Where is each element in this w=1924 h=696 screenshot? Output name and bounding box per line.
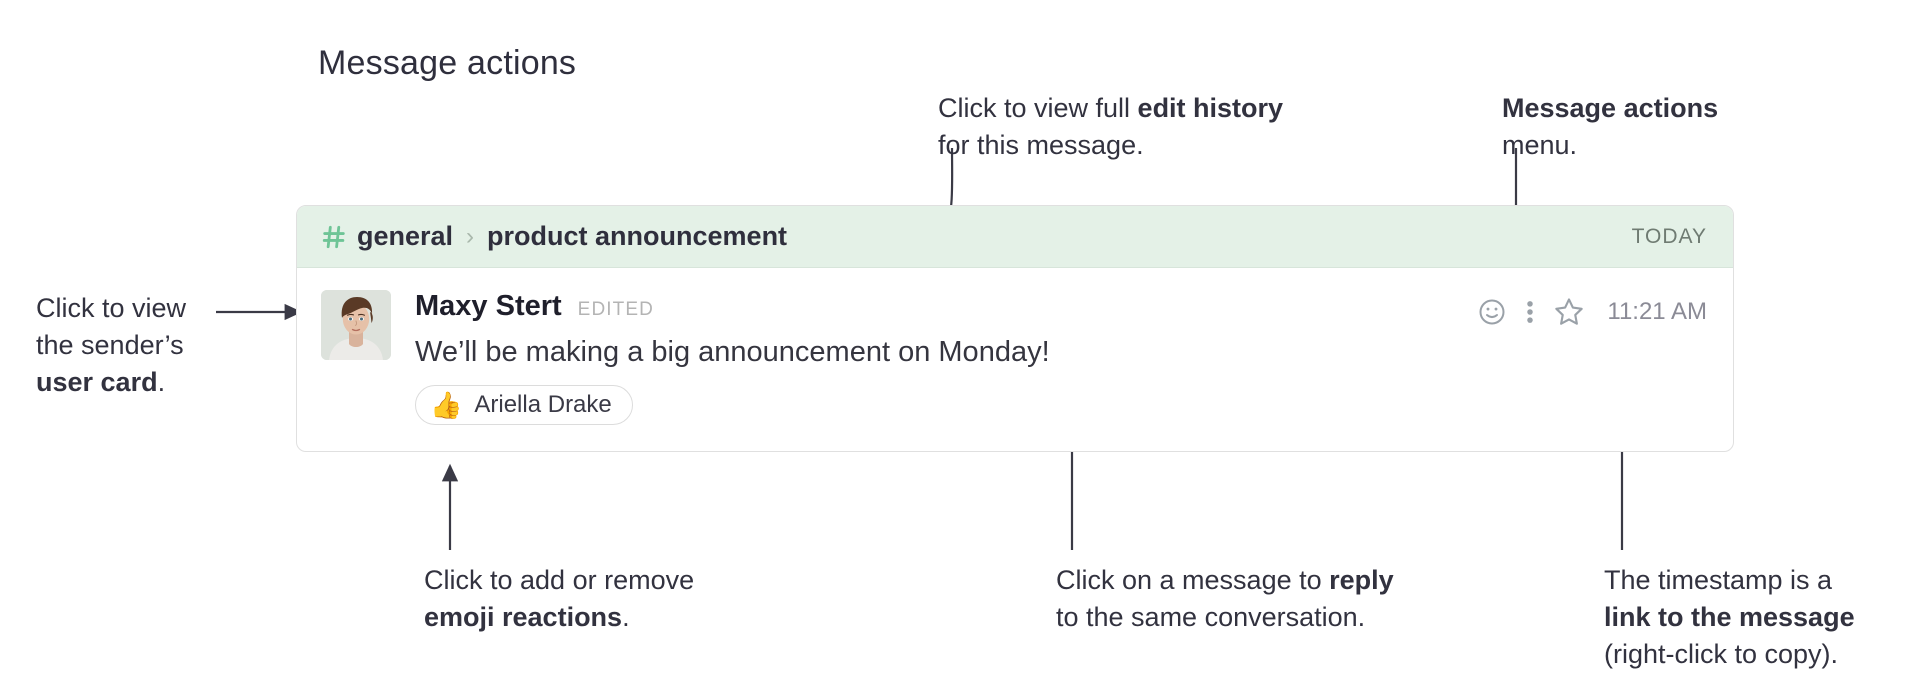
annotation-emphasis: link to the message (1604, 602, 1855, 632)
annotation-line: Click to add or remove (424, 562, 694, 599)
message-body[interactable]: We’ll be making a big announcement on Mo… (415, 336, 1707, 369)
annotation-emoji-reactions: Click to add or remove emoji reactions. (424, 562, 694, 636)
avatar-image (321, 290, 391, 360)
annotation-line: Click on a message to reply (1056, 562, 1394, 599)
annotation-reply: Click on a message to reply to the same … (1056, 562, 1394, 636)
emoji-reaction-pill[interactable]: 👍 Ariella Drake (415, 385, 633, 425)
annotation-user-card: Click to view the sender’s user card. (36, 290, 186, 401)
thumbs-up-icon: 👍 (430, 392, 462, 418)
annotation-emphasis: edit history (1138, 93, 1284, 123)
annotation-timestamp: The timestamp is a link to the message (… (1604, 562, 1855, 673)
annotation-line: link to the message (1604, 599, 1855, 636)
star-icon[interactable] (1553, 296, 1585, 328)
annotation-emphasis: reply (1329, 565, 1394, 595)
annotation-tail: . (158, 367, 166, 397)
annotation-line: for this message. (938, 127, 1283, 164)
annotation-prefix: Click to view full (938, 93, 1138, 123)
annotation-line: menu. (1502, 127, 1718, 164)
date-label-today: TODAY (1632, 225, 1707, 249)
annotation-line: user card. (36, 364, 186, 401)
annotation-emphasis: user card (36, 367, 158, 397)
annotation-edit-history: Click to view full edit history for this… (938, 90, 1283, 164)
page-title: Message actions (318, 44, 576, 83)
annotation-line: emoji reactions. (424, 599, 694, 636)
annotation-message-actions: Message actions menu. (1502, 90, 1718, 164)
annotation-prefix: Click on a message to (1056, 565, 1329, 595)
reactions-row: 👍 Ariella Drake (415, 385, 1707, 425)
breadcrumb-channel[interactable]: general (357, 221, 453, 252)
annotation-line: Message actions (1502, 90, 1718, 127)
emoji-reaction-icon[interactable] (1477, 297, 1507, 327)
annotation-emphasis: Message actions (1502, 93, 1718, 123)
annotation-line: Click to view (36, 290, 186, 327)
edited-badge[interactable]: EDITED (578, 299, 654, 321)
annotation-line: The timestamp is a (1604, 562, 1855, 599)
message-row[interactable]: Maxy Stert EDITED We’ll be making a big … (297, 268, 1733, 451)
message-timestamp-link[interactable]: 11:21 AM (1607, 298, 1707, 326)
annotation-emphasis: emoji reactions (424, 602, 622, 632)
message-card: general › product announcement TODAY (296, 205, 1734, 452)
breadcrumb-separator-icon: › (466, 223, 474, 251)
reaction-user-name: Ariella Drake (474, 391, 611, 419)
avatar[interactable] (321, 290, 391, 360)
breadcrumb-topic[interactable]: product announcement (487, 221, 787, 252)
hash-icon (321, 224, 347, 250)
sender-name[interactable]: Maxy Stert (415, 290, 562, 323)
annotation-line: Click to view full edit history (938, 90, 1283, 127)
annotation-line: to the same conversation. (1056, 599, 1394, 636)
annotation-tail: . (622, 602, 630, 632)
annotation-line: the sender’s (36, 327, 186, 364)
message-actions-menu-icon[interactable] (1525, 297, 1535, 327)
channel-header: general › product announcement TODAY (297, 206, 1733, 268)
annotation-line: (right-click to copy). (1604, 636, 1855, 673)
message-actions-toolbar: 11:21 AM (1477, 296, 1707, 328)
